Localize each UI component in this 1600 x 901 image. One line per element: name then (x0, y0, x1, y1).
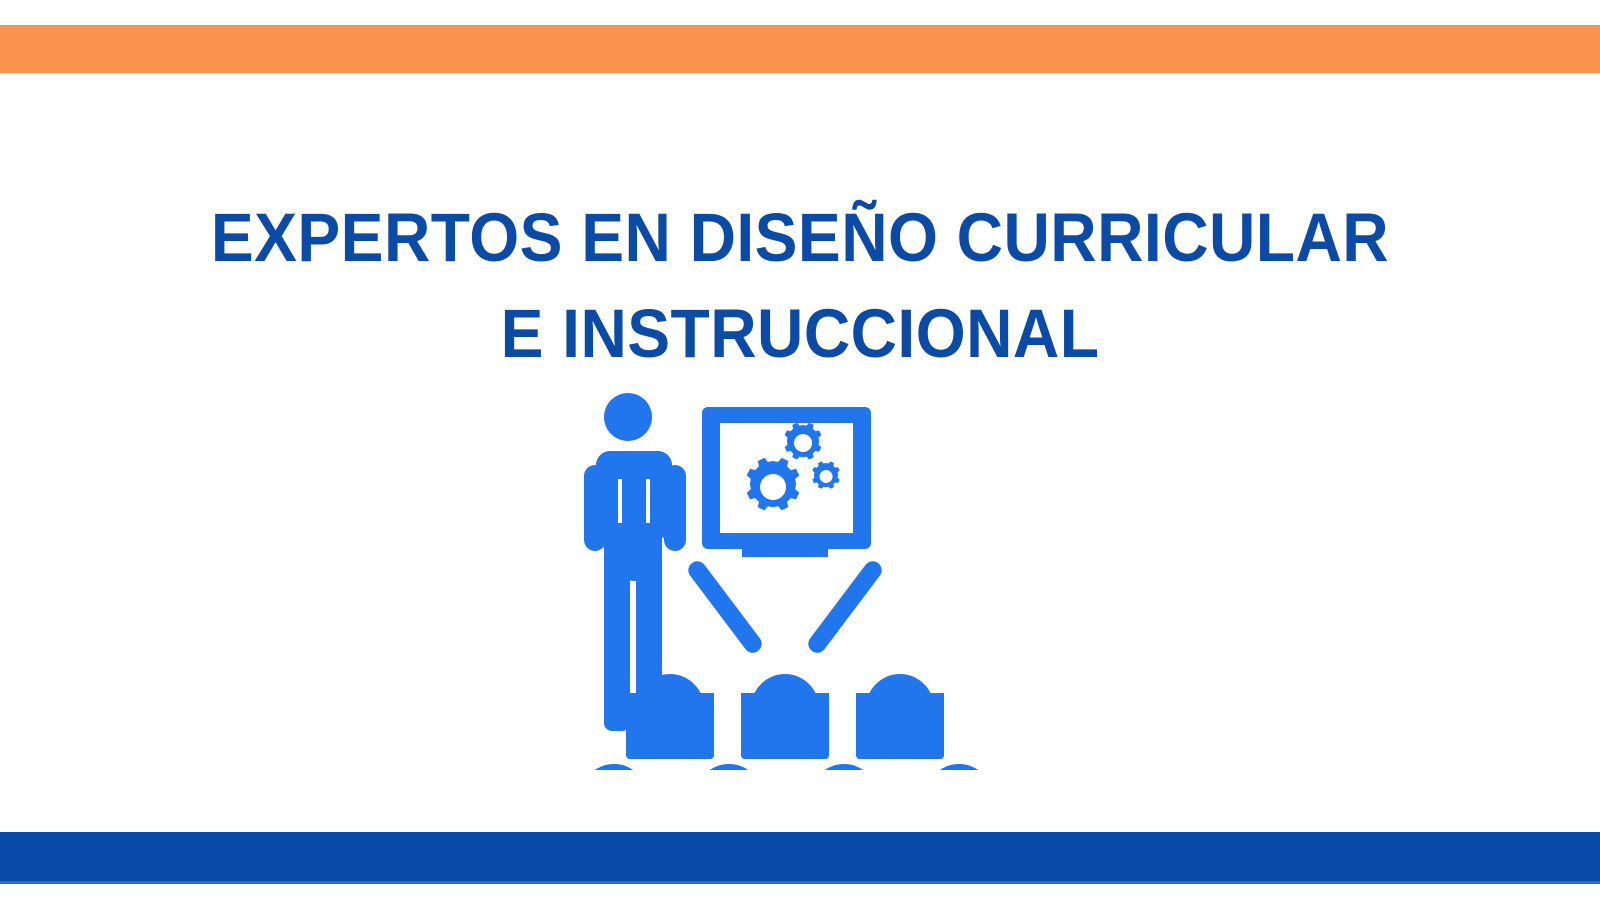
gears-icon (747, 423, 840, 511)
title-line-1: EXPERTOS EN DISEÑO CURRICULAR (56, 190, 1544, 286)
audience-person (570, 764, 658, 770)
audience-person (915, 764, 1003, 770)
whiteboard-with-gears (702, 407, 871, 549)
audience-back-row (626, 674, 944, 759)
page-title: EXPERTOS EN DISEÑO CURRICULAR E INSTRUCC… (0, 190, 1600, 382)
orange-accent-bar (0, 25, 1600, 73)
classroom-training-illustration (540, 385, 1010, 770)
audience-person (685, 764, 773, 770)
title-line-2: E INSTRUCCIONAL (56, 286, 1544, 382)
audience-person (856, 674, 944, 759)
audience-front-row (570, 764, 1003, 770)
audience-person (800, 764, 888, 770)
tripod-stand (685, 541, 886, 656)
blue-accent-bar-underline (0, 881, 1600, 884)
audience-person (741, 674, 829, 759)
blue-accent-bar (0, 832, 1600, 881)
slide-canvas: EXPERTOS EN DISEÑO CURRICULAR E INSTRUCC… (0, 0, 1600, 901)
